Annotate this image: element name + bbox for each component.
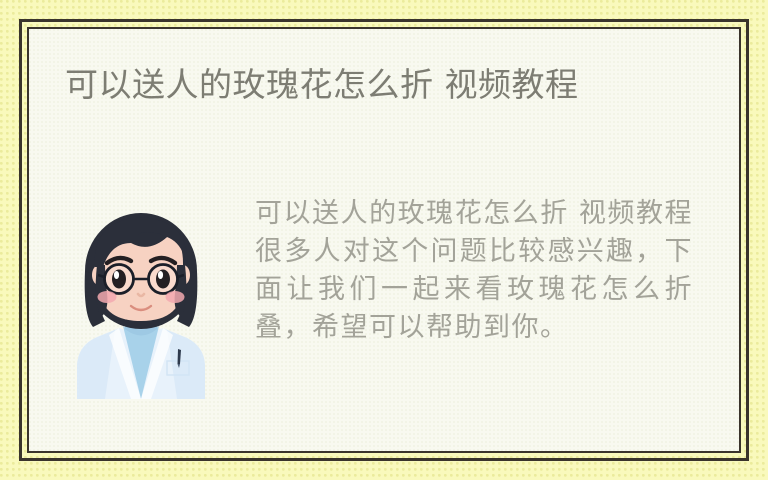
page-title: 可以送人的玫瑰花怎么折 视频教程 <box>65 62 579 108</box>
article-body-row: 可以送人的玫瑰花怎么折 视频教程很多人对这个问题比较感兴趣，下面让我们一起来看玫… <box>29 181 739 451</box>
card-content: 可以送人的玫瑰花怎么折 视频教程 <box>29 29 739 451</box>
article-card-page: 可以送人的玫瑰花怎么折 视频教程 <box>0 0 768 480</box>
woman-scientist-avatar-icon <box>75 209 207 399</box>
article-body-text: 可以送人的玫瑰花怎么折 视频教程很多人对这个问题比较感兴趣，下面让我们一起来看玫… <box>255 195 693 347</box>
